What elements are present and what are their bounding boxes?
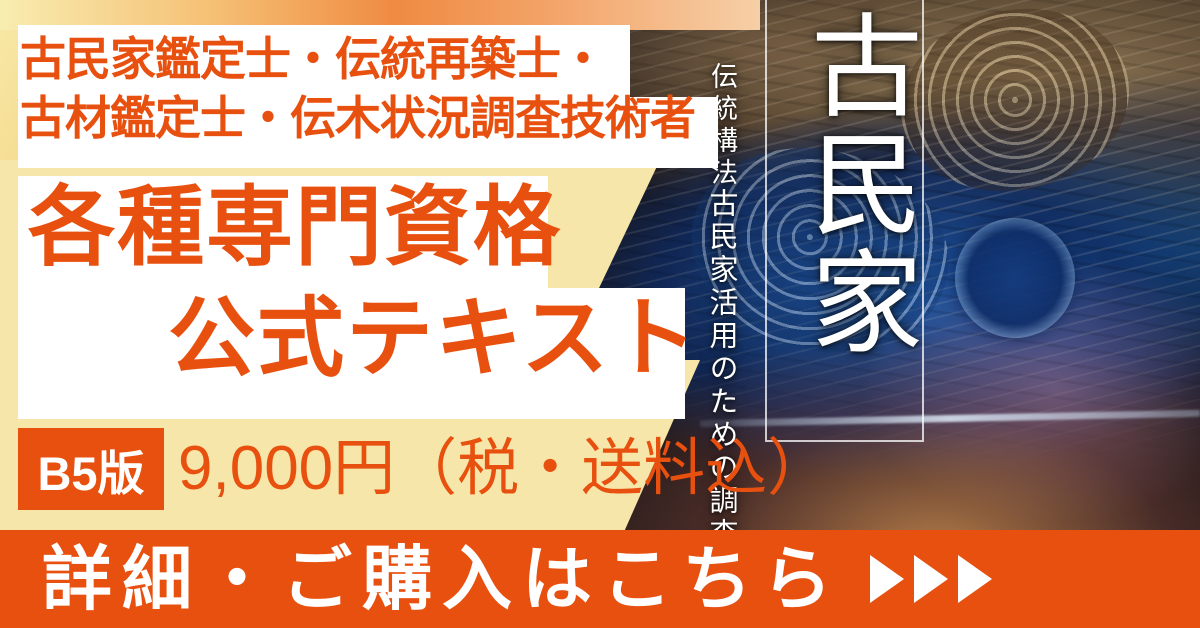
cta-label: 詳細・ご購入はこちら: [42, 544, 842, 614]
chevron-right-icon: [914, 555, 948, 603]
cta-arrows: [870, 555, 992, 603]
cta-bar[interactable]: 詳細・ご購入はこちら: [0, 530, 1200, 628]
price-text: 9,000円（税・送料込）: [178, 432, 829, 506]
qualification-headline: 古民家鑑定士・伝統再築士・ 古材鑑定士・伝木状況調査技術者: [20, 30, 720, 148]
promo-banner: 古民家 伝統構法 古民家活用のための調査と再生の 古民家鑑定士・伝統再築士・ 古…: [0, 0, 1200, 628]
main-title-line-2: 公式テキスト: [168, 295, 699, 382]
book-cover-title: 古民家: [790, 8, 920, 362]
headline-line-1: 古民家鑑定士・伝統再築士・: [20, 30, 720, 89]
chevron-right-icon: [870, 555, 904, 603]
main-title-line-1: 各種専門資格: [28, 184, 562, 271]
chevron-right-icon: [958, 555, 992, 603]
headline-line-2: 古材鑑定士・伝木状況調査技術者: [20, 89, 720, 148]
format-badge: B5版: [18, 428, 164, 510]
